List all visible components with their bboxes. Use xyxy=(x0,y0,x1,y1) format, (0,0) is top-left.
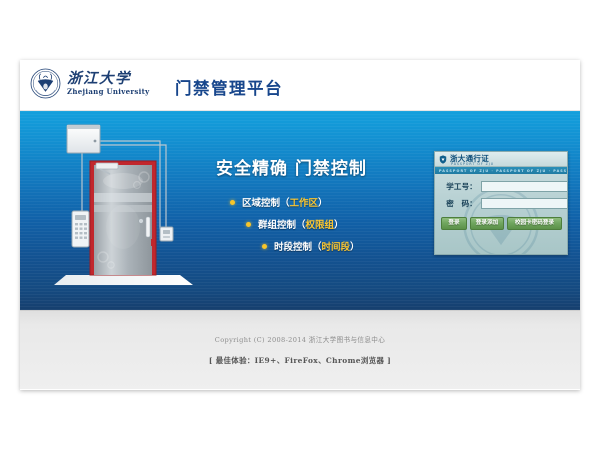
login-button[interactable]: 登录 xyxy=(441,217,467,230)
login-title-en: PASSPORT OF ZJU xyxy=(451,162,494,166)
site-footer: Copyright (C) 2008-2014 浙江大学图书与信息中心 [ 最佳… xyxy=(20,310,580,389)
feature-tail: ） xyxy=(350,239,360,253)
login-add-button[interactable]: 登录添加 xyxy=(470,217,504,230)
form-row-userid: 学工号： xyxy=(441,181,561,192)
feature-accent: 时间段 xyxy=(322,239,351,253)
hero-banner: 安全精确 门禁控制 区域控制（ 工作区 ） 群组控制（ 权限组 ） 时段控制（ xyxy=(20,111,580,310)
brand-wordmark: 浙江大学 Zhejiang University xyxy=(67,72,149,96)
hero-headline: 安全精确 门禁控制 xyxy=(216,154,426,179)
page-frame: 浙江大学 Zhejiang University 门禁管理平台 xyxy=(20,60,580,390)
hero-copy: 安全精确 门禁控制 区域控制（ 工作区 ） 群组控制（ 权限组 ） 时段控制（ xyxy=(216,154,426,261)
feature-tail: ） xyxy=(318,195,328,209)
footer-copyright: Copyright (C) 2008-2014 浙江大学图书与信息中心 xyxy=(215,334,385,344)
campus-card-login-button[interactable]: 校园卡密码登录 xyxy=(507,217,562,230)
feature-accent: 权限组 xyxy=(306,217,335,231)
brand-name-en: Zhejiang University xyxy=(67,88,149,95)
hero-feature-list: 区域控制（ 工作区 ） 群组控制（ 权限组 ） 时段控制（ 时间段 ） xyxy=(216,195,426,253)
login-form: 学工号： 密 码： xyxy=(435,174,567,209)
list-item: 区域控制（ 工作区 ） xyxy=(230,195,426,209)
list-item: 时段控制（ 时间段 ） xyxy=(262,239,426,253)
list-item: 群组控制（ 权限组 ） xyxy=(246,217,426,231)
login-panel: 浙大通行证 PASSPORT OF ZJU PASSPORT OF ZJU · … xyxy=(434,151,568,255)
access-control-door-illustration xyxy=(48,119,198,305)
zju-seal-icon xyxy=(30,68,61,99)
form-row-password: 密 码： xyxy=(441,198,561,209)
userid-label: 学工号： xyxy=(441,183,477,191)
bullet-dot-icon xyxy=(246,222,251,227)
bullet-dot-icon xyxy=(262,244,267,249)
password-label: 密 码： xyxy=(441,200,477,208)
login-titlebar: 浙大通行证 PASSPORT OF ZJU xyxy=(435,152,567,167)
passport-band-text: PASSPORT OF ZJU · PASSPORT OF ZJU · PASS… xyxy=(435,169,567,173)
brand-block[interactable]: 浙江大学 Zhejiang University xyxy=(30,68,149,99)
password-input[interactable] xyxy=(481,198,568,209)
brand-name-cn: 浙江大学 xyxy=(67,72,149,87)
login-actions: 登录 登录添加 校园卡密码登录 xyxy=(435,215,567,230)
feature-tail: ） xyxy=(334,217,344,231)
feature-text: 区域控制（ xyxy=(242,195,290,209)
feature-text: 群组控制（ xyxy=(258,217,306,231)
feature-accent: 工作区 xyxy=(290,195,319,209)
passport-band: PASSPORT OF ZJU · PASSPORT OF ZJU · PASS… xyxy=(435,167,567,174)
passport-shield-icon xyxy=(439,155,447,164)
site-header: 浙江大学 Zhejiang University 门禁管理平台 xyxy=(20,60,580,111)
feature-text: 时段控制（ xyxy=(274,239,322,253)
footer-browser-note: [ 最佳体验：IE9+、FireFox、Chrome浏览器 ] xyxy=(209,355,391,366)
bullet-dot-icon xyxy=(230,200,235,205)
userid-input[interactable] xyxy=(481,181,568,192)
page-title: 门禁管理平台 xyxy=(175,75,283,99)
